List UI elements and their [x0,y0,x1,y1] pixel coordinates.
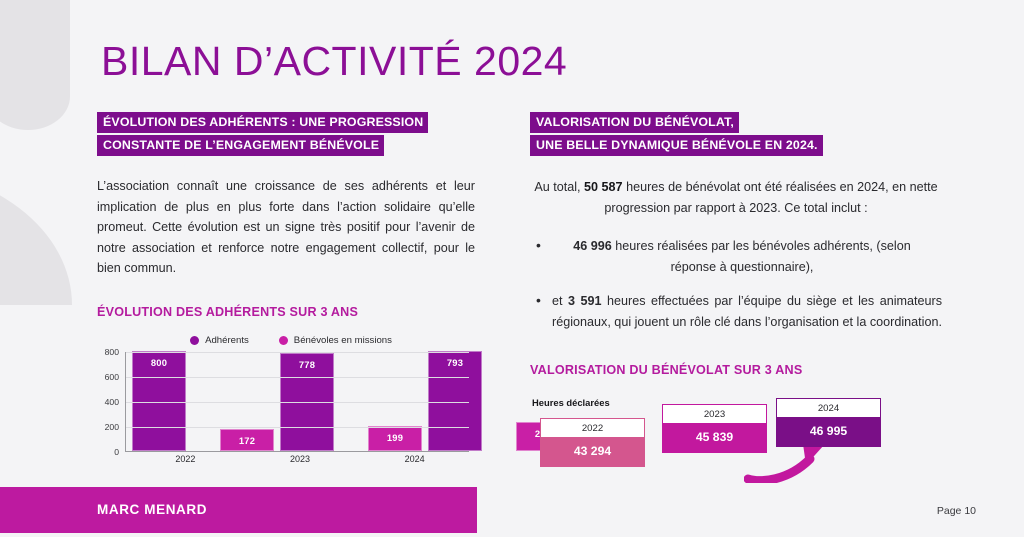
right-column: VALORISATION DU BÉNÉVOLAT, UNE BELLE DYN… [530,112,942,477]
valorisation-year-2022: 2022 [541,419,644,437]
chart-legend: Adhérents Bénévoles en missions [107,335,475,346]
chart-plot-area: 800172778199793232 [125,352,469,452]
chart-x-axis: 202220232024 [125,454,469,464]
legend-label-adherents: Adhérents [205,335,249,346]
list-item: et 3 591 heures effectuées par l’équipe … [530,291,942,333]
bar-chart: 8006004002000 800172778199793232 2022202… [97,352,469,470]
x-tick-label: 2023 [240,454,355,464]
bar-value-label: 199 [387,432,403,450]
chart-y-axis: 8006004002000 [97,352,123,452]
left-heading-banner: ÉVOLUTION DES ADHÉRENTS : UNE PROGRESSIO… [97,112,475,158]
right-heading-line-1: VALORISATION DU BÉNÉVOLAT, [530,112,739,133]
valorisation-value-2022: 43 294 [541,437,644,466]
grid-line [126,377,469,378]
legend-swatch-icon [190,336,199,345]
intro-bold-number: 50 587 [584,180,623,194]
right-heading-line-2: UNE BELLE DYNAMIQUE BÉNÉVOLE EN 2024. [530,135,823,156]
valorisation-box-2022: 2022 43 294 [540,418,645,467]
heures-declarees-label: Heures déclarées [532,397,610,408]
valorisation-year-2023: 2023 [663,405,766,423]
grid-line [126,352,469,353]
bullet-text-after: heures réalisées par les bénévoles adhér… [612,239,911,274]
right-heading-banner: VALORISATION DU BÉNÉVOLAT, UNE BELLE DYN… [530,112,942,158]
valorisation-box-2023: 2023 45 839 [662,404,767,453]
grid-line [126,427,469,428]
valorisation-heading: VALORISATION DU BÉNÉVOLAT SUR 3 ANS [530,363,942,377]
intro-text-after: heures de bénévolat ont été réalisées en… [604,180,937,215]
bar-value-label: 800 [151,357,167,450]
y-tick-label: 400 [105,397,119,407]
footer-author-name: MARC MENARD [97,502,207,517]
chart-bar: 172 [220,429,274,451]
left-column: ÉVOLUTION DES ADHÉRENTS : UNE PROGRESSIO… [97,112,475,470]
valorisation-year-2024: 2024 [777,399,880,417]
bar-value-label: 778 [299,359,315,449]
bar-value-label: 172 [239,435,255,450]
right-intro-paragraph: Au total, 50 587 heures de bénévolat ont… [530,177,942,219]
x-tick-label: 2024 [354,454,469,464]
decorative-shape-top-left [0,0,70,130]
bar-value-label: 793 [447,357,463,449]
page-title: BILAN D’ACTIVITÉ 2024 [101,38,567,85]
valorisation-value-2024: 46 995 [777,417,880,446]
y-tick-label: 0 [114,447,119,457]
left-paragraph: L’association connaît une croissance de … [97,176,475,279]
decorative-circle-left [0,168,72,305]
legend-item-benevoles: Bénévoles en missions [279,335,392,346]
left-heading-line-2: CONSTANTE DE L’ENGAGEMENT BÉNÉVOLE [97,135,384,156]
bullet-text-before: et [552,294,568,308]
y-tick-label: 200 [105,422,119,432]
bullet-bold-number: 3 591 [568,294,602,308]
intro-text-before: Au total, [534,180,584,194]
chart-bar: 800 [132,351,186,451]
valorisation-value-2023: 45 839 [663,423,766,452]
y-tick-label: 800 [105,347,119,357]
bullet-text-after: heures effectuées par l’équipe du siège … [552,294,942,329]
grid-line [126,402,469,403]
right-bullet-list: 46 996 heures réalisées par les bénévole… [530,236,942,333]
legend-label-benevoles: Bénévoles en missions [294,335,392,346]
chart-bar: 199 [368,426,422,451]
valorisation-box-2024: 2024 46 995 [776,398,881,447]
legend-item-adherents: Adhérents [190,335,249,346]
y-tick-label: 600 [105,372,119,382]
x-tick-label: 2022 [125,454,240,464]
slide-canvas: BILAN D’ACTIVITÉ 2024 ÉVOLUTION DES ADHÉ… [0,0,1024,537]
footer-bar [0,487,477,533]
left-heading-line-1: ÉVOLUTION DES ADHÉRENTS : UNE PROGRESSIO… [97,112,428,133]
legend-swatch-icon [279,336,288,345]
valorisation-boxes: Heures déclarées 2022 43 294 2023 45 839… [530,391,930,477]
bullet-bold-number: 46 996 [573,239,612,253]
page-number: Page 10 [937,505,976,517]
chart-heading: ÉVOLUTION DES ADHÉRENTS SUR 3 ANS [97,305,475,319]
list-item: 46 996 heures réalisées par les bénévole… [530,236,942,278]
